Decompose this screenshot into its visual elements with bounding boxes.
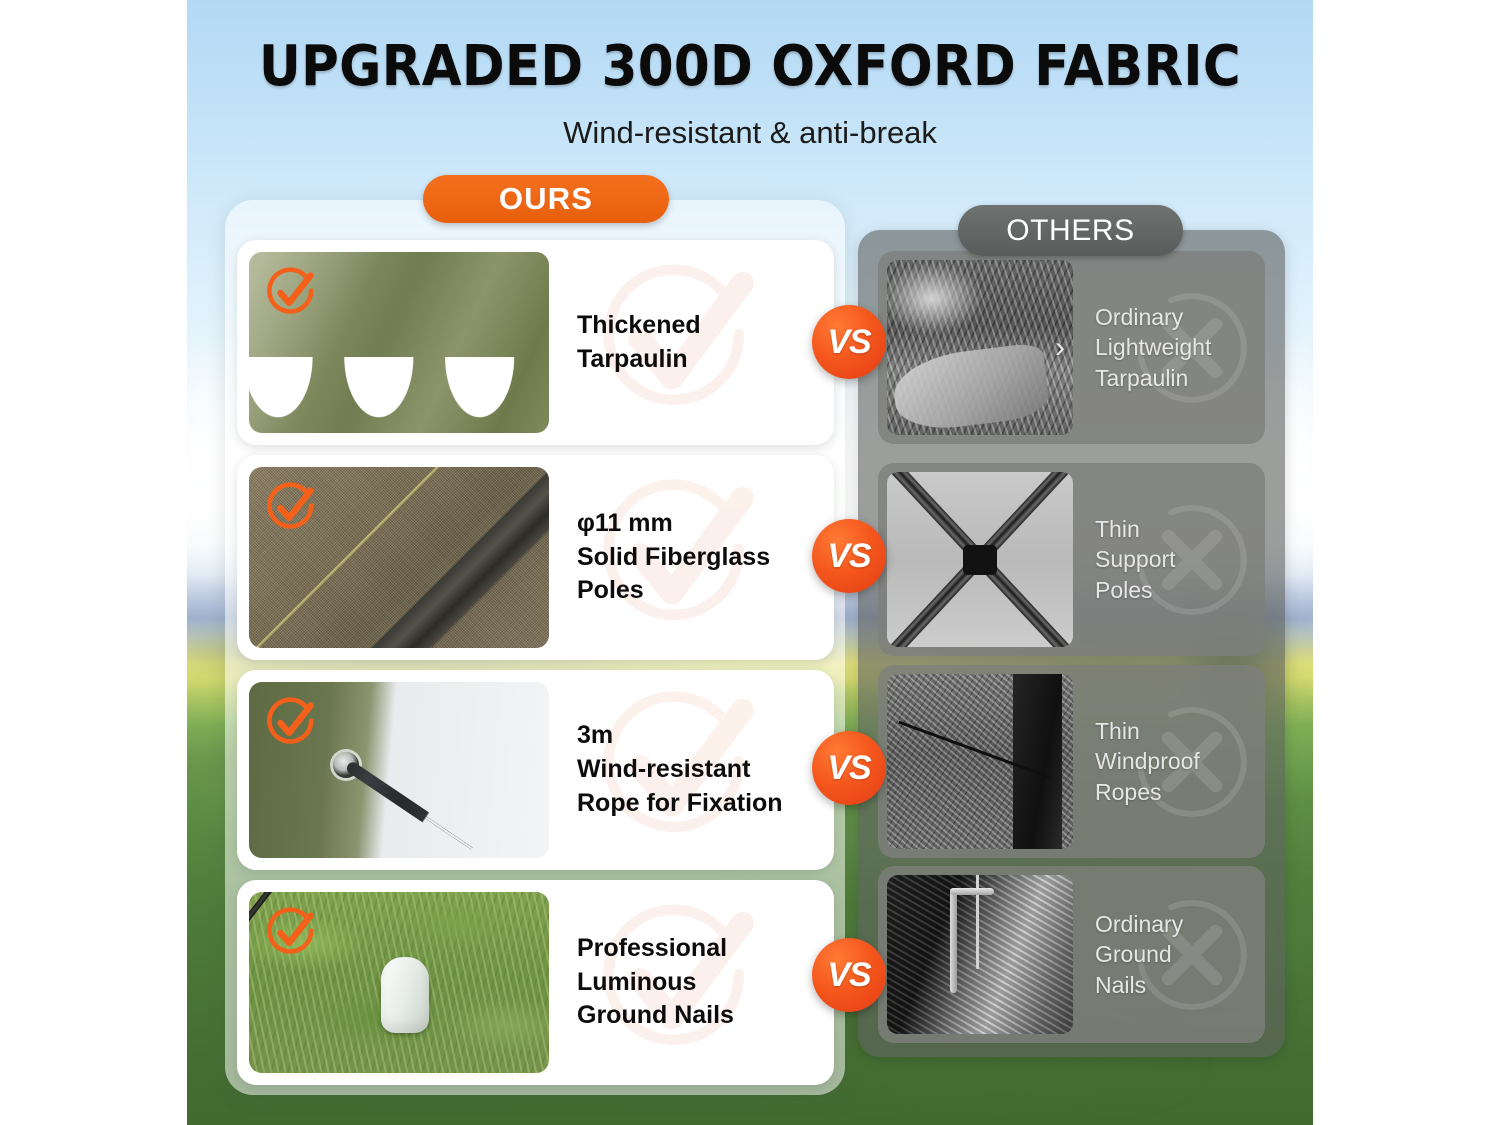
others-label-1-line-2: Lightweight xyxy=(1095,334,1211,360)
others-label-1: Ordinary Lightweight Tarpaulin xyxy=(1073,251,1265,444)
ours-thumb-1 xyxy=(249,252,549,433)
others-thumb-3 xyxy=(887,674,1073,849)
vs-badge-1: VS xyxy=(812,305,886,379)
others-label-2-line-2: Support xyxy=(1095,546,1176,572)
others-label-2-line-3: Poles xyxy=(1095,577,1153,603)
orange-check-circle-icon xyxy=(263,479,321,537)
ours-label-2-line-3: Poles xyxy=(577,576,644,604)
others-row-1: › Ordinary Lightweight Tarpaulin xyxy=(878,251,1265,444)
others-thumb-4 xyxy=(887,875,1073,1034)
vs-badge-4: VS xyxy=(812,938,886,1012)
ours-label-1-line-1: Thickened xyxy=(577,311,701,339)
others-label-4-line-2: Ground xyxy=(1095,941,1172,967)
others-label-4-line-1: Ordinary xyxy=(1095,911,1183,937)
others-row-4: Ordinary Ground Nails xyxy=(878,866,1265,1043)
ours-thumb-4 xyxy=(249,892,549,1073)
ours-label-2: φ11 mm Solid Fiberglass Poles xyxy=(549,455,834,660)
others-badge: OTHERS xyxy=(958,205,1183,256)
others-row-2: Thin Support Poles xyxy=(878,463,1265,656)
ours-thumb-2 xyxy=(249,467,549,648)
others-label-3-line-1: Thin xyxy=(1095,718,1140,744)
others-label-3-line-3: Ropes xyxy=(1095,779,1161,805)
vs-badge-3: VS xyxy=(812,731,886,805)
ours-label-2-line-2: Solid Fiberglass xyxy=(577,543,770,571)
others-thumb-1: › xyxy=(887,260,1073,435)
orange-check-circle-icon xyxy=(263,904,321,962)
ours-label-3-line-1: 3m xyxy=(577,721,613,749)
others-label-2: Thin Support Poles xyxy=(1073,463,1265,656)
ours-label-3: 3m Wind-resistant Rope for Fixation xyxy=(549,670,834,870)
others-label-1-line-1: Ordinary xyxy=(1095,304,1183,330)
ours-row-4: Professional Luminous Ground Nails xyxy=(237,880,834,1085)
others-label-3-line-2: Windproof xyxy=(1095,748,1200,774)
ours-row-1: Thickened Tarpaulin xyxy=(237,240,834,445)
ours-label-1-line-2: Tarpaulin xyxy=(577,345,688,373)
ours-label-3-line-3: Rope for Fixation xyxy=(577,789,783,817)
vs-badge-2: VS xyxy=(812,519,886,593)
ours-label-4-line-3: Ground Nails xyxy=(577,1001,734,1029)
ours-badge: OURS xyxy=(423,175,669,223)
page-subtitle: Wind-resistant & anti-break xyxy=(187,115,1313,151)
chevron-right-icon: › xyxy=(1055,331,1065,365)
ours-label-3-line-2: Wind-resistant xyxy=(577,755,750,783)
others-label-1-line-3: Tarpaulin xyxy=(1095,365,1188,391)
ours-label-2-line-1: φ11 mm xyxy=(577,509,673,537)
page-title: UPGRADED 300D OXFORD FABRIC xyxy=(232,34,1268,99)
ours-row-3: 3m Wind-resistant Rope for Fixation xyxy=(237,670,834,870)
others-label-3: Thin Windproof Ropes xyxy=(1073,665,1265,858)
others-label-4-line-3: Nails xyxy=(1095,972,1146,998)
ours-label-4-line-1: Professional xyxy=(577,934,727,962)
infographic-stage: UPGRADED 300D OXFORD FABRIC Wind-resista… xyxy=(187,0,1313,1125)
ours-row-2: φ11 mm Solid Fiberglass Poles xyxy=(237,455,834,660)
ours-label-4: Professional Luminous Ground Nails xyxy=(549,880,834,1085)
ours-label-4-line-2: Luminous xyxy=(577,968,696,996)
ours-thumb-3 xyxy=(249,682,549,858)
ours-label-1: Thickened Tarpaulin xyxy=(549,240,834,445)
others-thumb-2 xyxy=(887,472,1073,647)
orange-check-circle-icon xyxy=(263,264,321,322)
orange-check-circle-icon xyxy=(263,694,321,752)
others-row-3: Thin Windproof Ropes xyxy=(878,665,1265,858)
others-label-4: Ordinary Ground Nails xyxy=(1073,866,1265,1043)
others-label-2-line-1: Thin xyxy=(1095,516,1140,542)
